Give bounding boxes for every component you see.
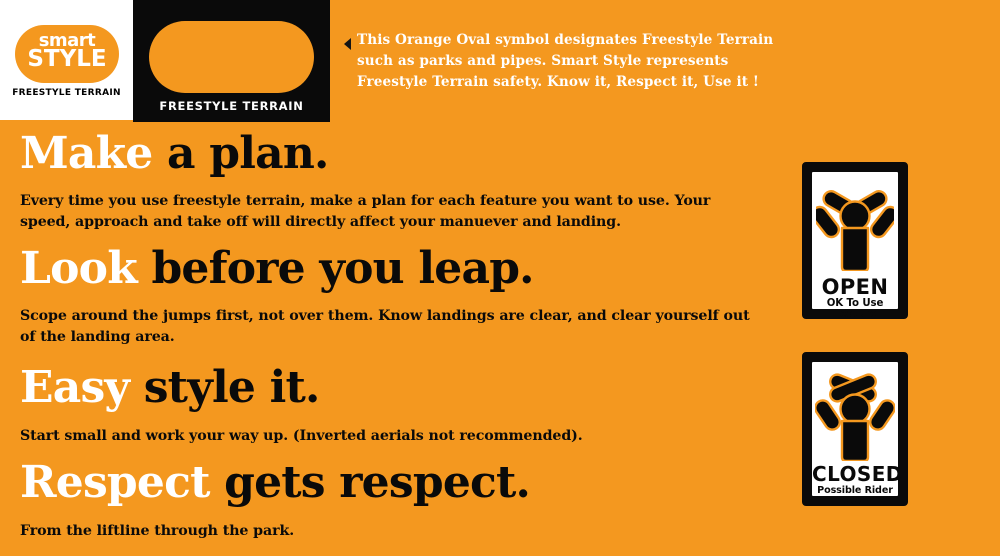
tip-item: Make a plan. Every time you use freestyl… [20,130,760,233]
sign-open-subtitle: OK To Use Feature [812,298,898,320]
freestyle-terrain-poster: smart STYLE FREESTYLE TERRAIN FREESTYLE … [0,0,1000,556]
tip-heading: Make a plan. [20,130,760,178]
tip-item: Respect gets respect. From the liftline … [20,459,760,542]
person-arms-overhead-icon [812,178,898,273]
tip-heading: Respect gets respect. [20,459,760,507]
logo-caption: FREESTYLE TERRAIN [0,88,133,98]
tip-heading: Look before you leap. [20,245,760,293]
tip-heading-rest: a plan. [153,128,329,179]
tip-heading-highlight: Easy [20,362,129,413]
sign-open-title: OPEN [812,275,898,299]
tip-body: Scope around the jumps first, not over t… [20,306,760,348]
tip-body: Start small and work your way up. (Inver… [20,426,760,447]
sign-closed-subtitle: Possible Rider Down [812,485,898,507]
logo-word-style: STYLE [15,47,119,71]
sign-closed: CLOSED Possible Rider Down [799,349,911,509]
sign-closed-inner: CLOSED Possible Rider Down [810,360,900,498]
tip-heading-highlight: Respect [20,457,210,508]
symbol-caption: FREESTYLE TERRAIN [133,99,330,113]
sign-open-inner: OPEN OK To Use Feature [810,170,900,311]
tip-heading: Easy style it. [20,364,760,412]
smart-style-logo-panel: smart STYLE FREESTYLE TERRAIN [0,0,133,120]
person-arms-crossed-icon [812,368,898,463]
tip-item: Easy style it. Start small and work your… [20,364,760,447]
orange-oval-symbol-panel: FREESTYLE TERRAIN [133,0,330,122]
left-triangle-icon [344,38,351,50]
smart-style-oval: smart STYLE [15,25,119,83]
tip-item: Look before you leap. Scope around the j… [20,245,760,348]
tip-heading-rest: before you leap. [137,243,534,294]
orange-oval-icon [149,21,314,93]
tip-heading-highlight: Look [20,243,137,294]
header-note: This Orange Oval symbol designates Frees… [344,30,774,93]
sign-closed-title: CLOSED [812,462,898,486]
tip-body: From the liftline through the park. [20,521,760,542]
tip-heading-rest: gets respect. [210,457,530,508]
tip-heading-highlight: Make [20,128,153,179]
tip-heading-rest: style it. [129,362,319,413]
sign-open: OPEN OK To Use Feature [799,159,911,322]
header-note-text: This Orange Oval symbol designates Frees… [344,30,774,93]
tip-body: Every time you use freestyle terrain, ma… [20,191,760,233]
header-strip: smart STYLE FREESTYLE TERRAIN FREESTYLE … [0,0,1000,124]
